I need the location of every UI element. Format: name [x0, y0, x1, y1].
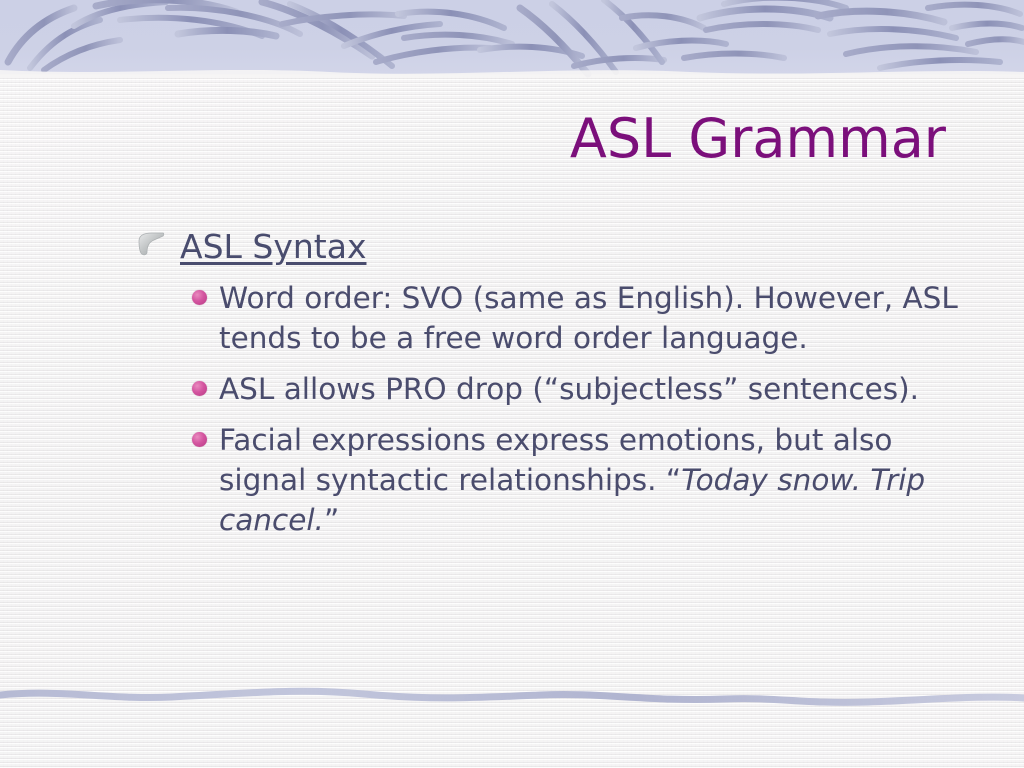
- list-item-text: Word order: SVO (same as English). Howev…: [219, 278, 966, 358]
- list-item-text-close-quote: ”: [324, 503, 339, 537]
- list-item: Word order: SVO (same as English). Howev…: [192, 278, 966, 358]
- sphere-bullet-icon: [192, 278, 219, 305]
- list-item: Facial expressions express emotions, but…: [192, 420, 966, 540]
- bullet-list: Word order: SVO (same as English). Howev…: [136, 278, 966, 540]
- list-item: ASL allows PRO drop (“subjectless” sente…: [192, 369, 966, 409]
- bottom-wavy-divider: [0, 676, 1024, 716]
- slide-canvas: ASL Grammar ASL Syntax: [0, 0, 1024, 768]
- list-item-text: Facial expressions express emotions, but…: [219, 420, 966, 540]
- content-body: ASL Syntax Word order: SVO (same as Engl…: [136, 226, 966, 551]
- list-item-text-plain: Word order: SVO (same as English). Howev…: [219, 281, 958, 355]
- section-heading: ASL Syntax: [180, 226, 366, 268]
- top-decorative-banner: [0, 0, 1024, 78]
- page-title: ASL Grammar: [570, 108, 946, 170]
- banner-brush-strokes-icon: [0, 0, 1024, 78]
- heading-row: ASL Syntax: [136, 226, 966, 268]
- list-item-text-plain: ASL allows PRO drop (“subjectless” sente…: [219, 372, 919, 406]
- list-item-text: ASL allows PRO drop (“subjectless” sente…: [219, 369, 966, 409]
- sphere-bullet-icon: [192, 420, 219, 447]
- sphere-bullet-icon: [192, 369, 219, 396]
- hook-bullet-icon: [136, 226, 180, 262]
